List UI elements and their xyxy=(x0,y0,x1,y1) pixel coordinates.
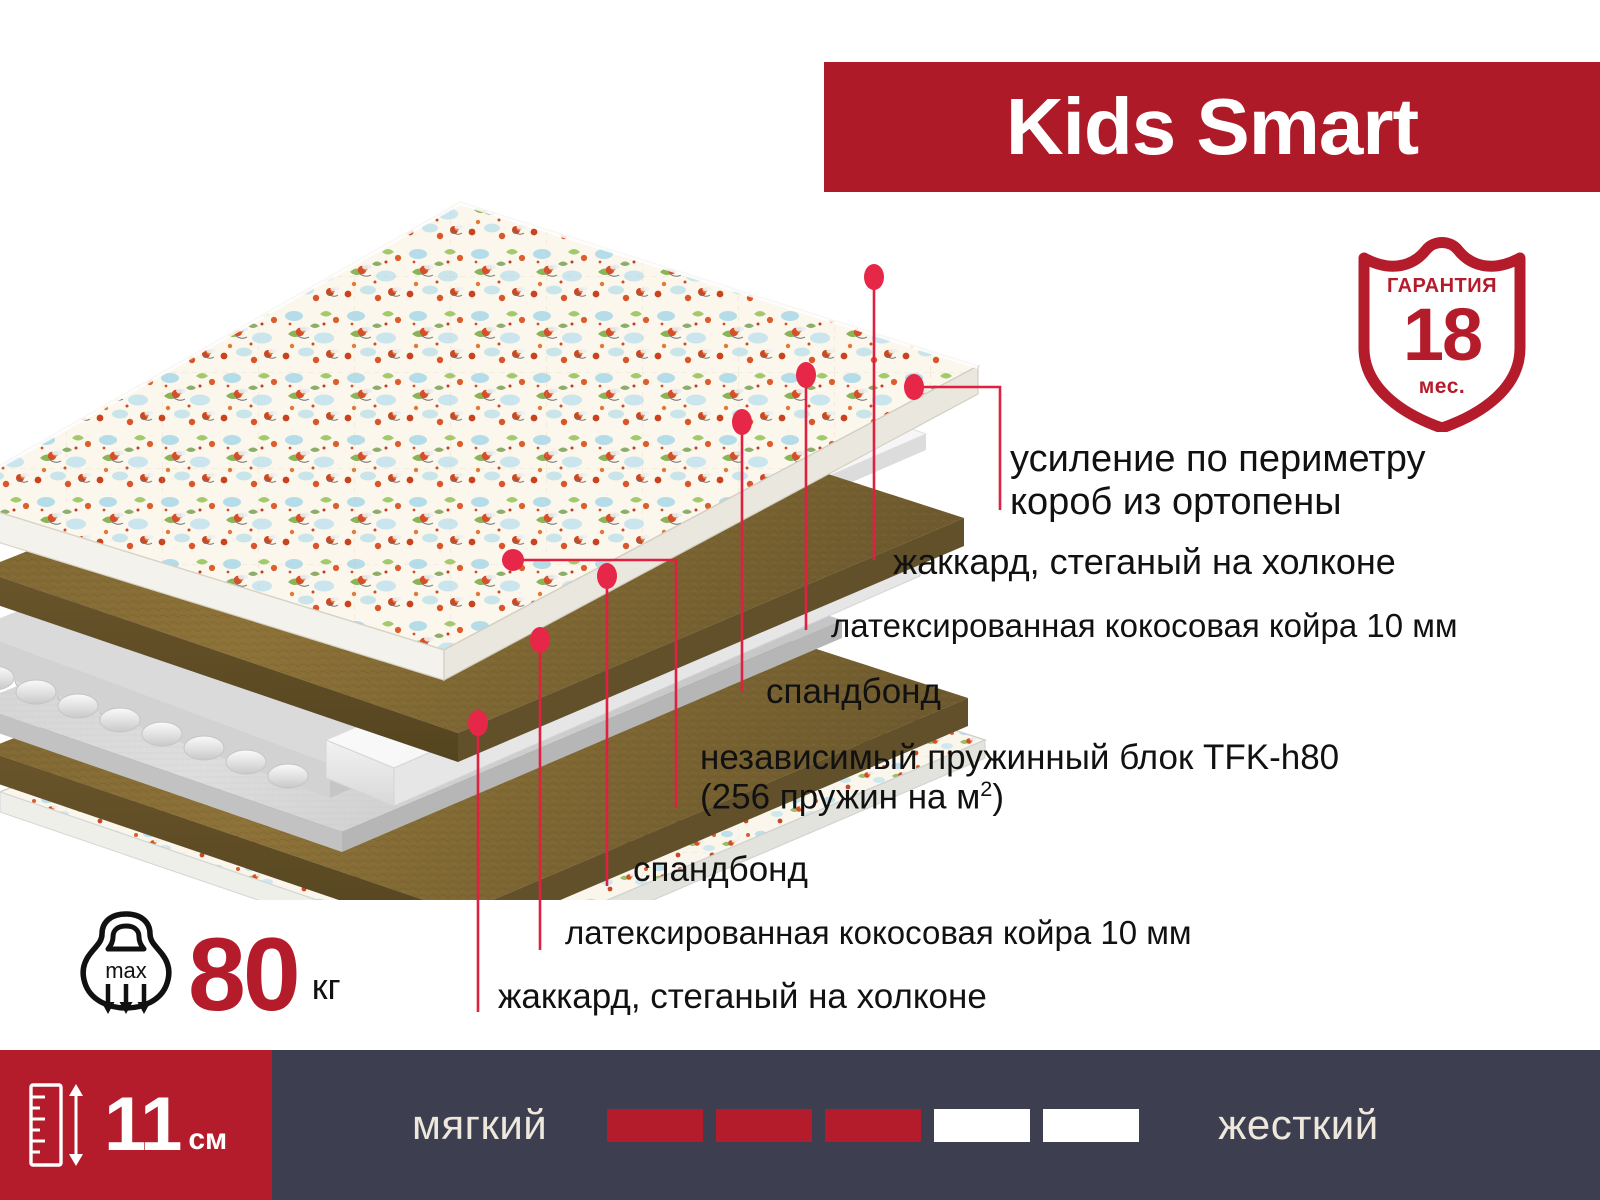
max-weight-indicator: max 80 кг xyxy=(78,900,341,1020)
height-spec-block: 11 см xyxy=(0,1050,272,1200)
bottom-spec-bar: 11 см мягкий жесткий xyxy=(0,1050,1600,1200)
warranty-unit: мес. xyxy=(1352,376,1532,397)
firmness-segment-1 xyxy=(607,1109,703,1142)
product-title-banner: Kids Smart xyxy=(824,62,1600,192)
label-coir-bottom: латексированная кокосовая койра 10 мм xyxy=(565,915,1192,952)
firmness-segment-2 xyxy=(716,1109,812,1142)
firmness-scale xyxy=(607,1109,1152,1142)
firmness-segment-5 xyxy=(1043,1109,1139,1142)
max-weight-value: 80 xyxy=(188,931,298,1020)
warranty-number: 18 xyxy=(1352,298,1532,372)
height-value: 11 xyxy=(104,1095,180,1156)
warranty-badge: ГАРАНТИЯ 18 мес. xyxy=(1352,236,1532,432)
firmness-segment-3 xyxy=(825,1109,921,1142)
label-spring-block-line2: (256 пружин на м2) xyxy=(700,777,1570,817)
height-unit: см xyxy=(188,1093,227,1157)
label-jacquard-top: жаккард, стеганый на холконе xyxy=(893,542,1396,582)
max-weight-unit: кг xyxy=(312,966,341,1020)
label-perimeter-line1: усиление по периметру xyxy=(1010,438,1550,481)
label-spring-block-superscript: 2 xyxy=(980,776,992,801)
infographic-canvas: Kids Smart ГАРАНТИЯ 18 мес. усиление по … xyxy=(0,0,1600,1200)
page-title: Kids Smart xyxy=(1006,87,1418,167)
firmness-segment-4 xyxy=(934,1109,1030,1142)
label-coir-top: латексированная кокосовая койра 10 мм xyxy=(831,608,1458,645)
firmness-hard-label: жесткий xyxy=(1218,1101,1379,1149)
firmness-soft-label: мягкий xyxy=(412,1101,547,1149)
label-perimeter-reinforcement: усиление по периметру короб из ортопены xyxy=(1010,438,1550,523)
svg-text:max: max xyxy=(105,958,147,983)
label-spring-block-line2-post: ) xyxy=(992,778,1004,817)
label-jacquard-bottom: жаккард, стеганый на холконе xyxy=(498,977,987,1016)
ruler-icon xyxy=(28,1082,94,1168)
kettlebell-max-icon: max xyxy=(78,908,174,1020)
label-spandbond-top: спандбонд xyxy=(766,672,941,711)
label-spring-block: независимый пружинный блок TFK-h80 (256 … xyxy=(700,738,1570,817)
firmness-scale-block: мягкий жесткий xyxy=(272,1050,1600,1200)
label-perimeter-line2: короб из ортопены xyxy=(1010,481,1550,524)
label-spring-block-line1: независимый пружинный блок TFK-h80 xyxy=(700,738,1570,777)
label-spandbond-bottom: спандбонд xyxy=(633,850,808,889)
label-spring-block-line2-pre: (256 пружин на м xyxy=(700,778,980,817)
